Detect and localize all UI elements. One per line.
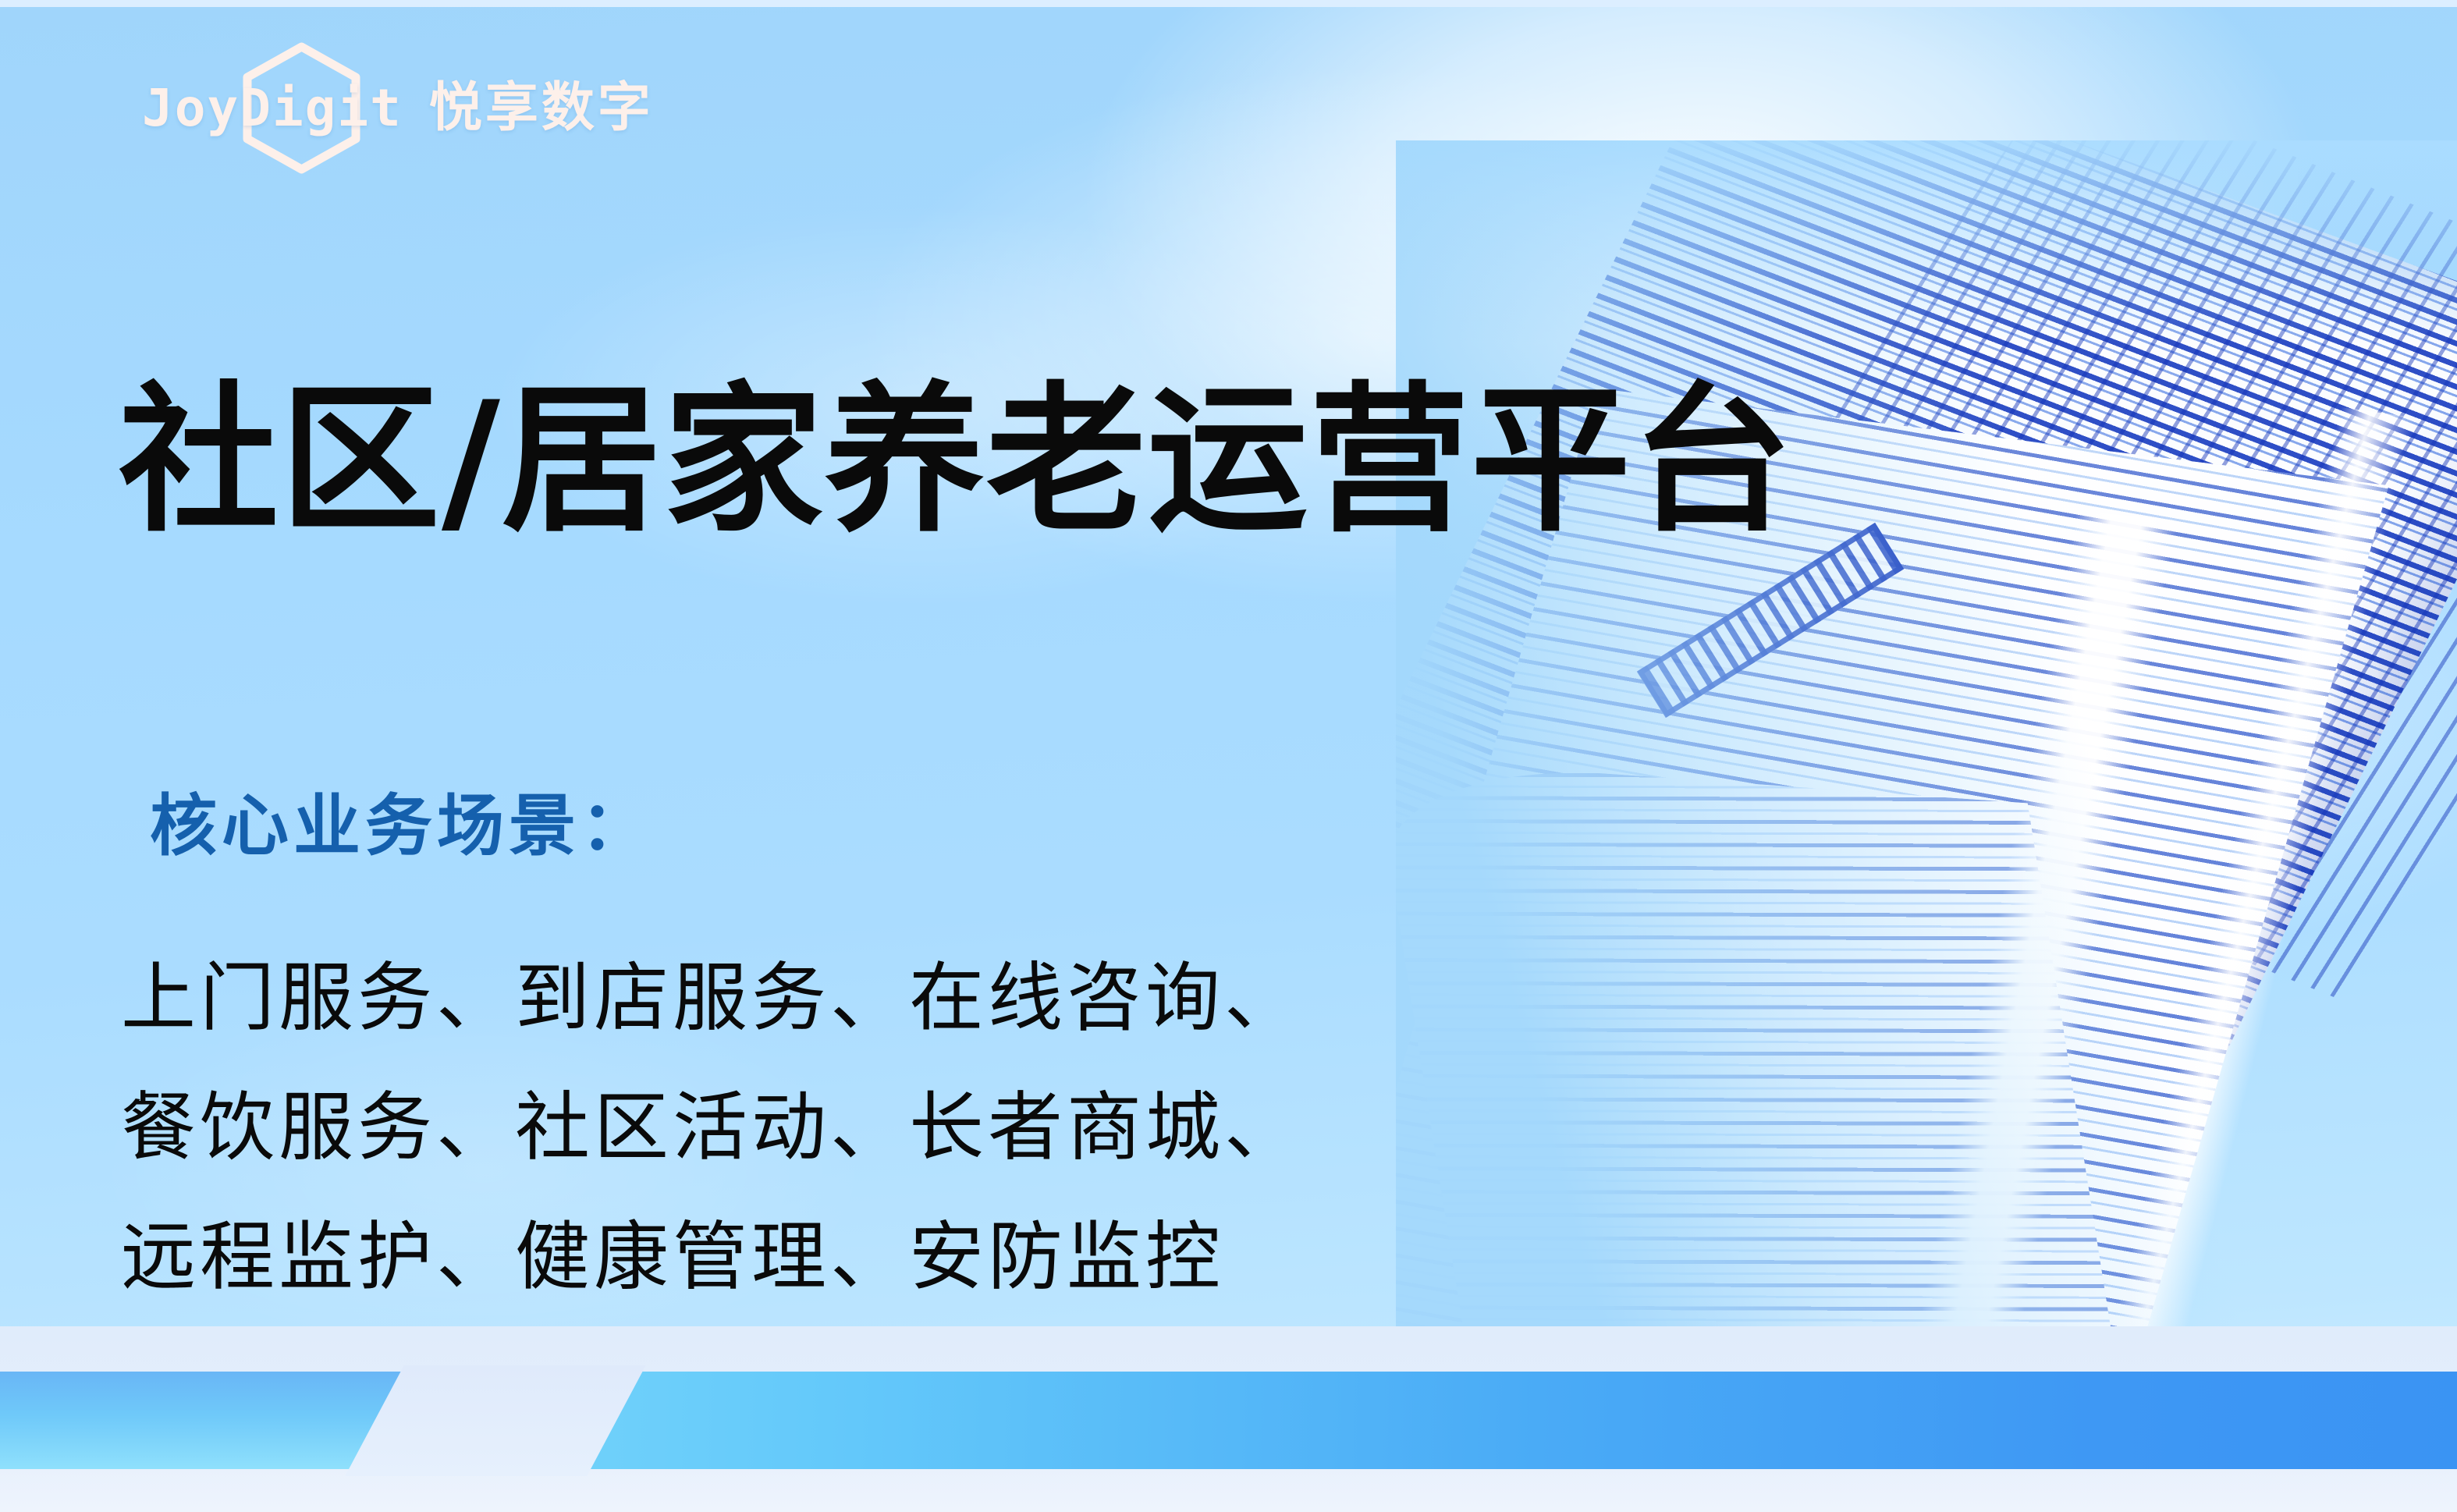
logo-chinese-text: 悦享数字 <box>429 82 654 135</box>
footer-decorative-bar <box>0 1326 2457 1512</box>
scenario-line: 远程监护、健康管理、安防监控 <box>121 1192 1303 1322</box>
page-title: 社区/居家养老运营平台 <box>119 372 1794 552</box>
scenario-line: 餐饮服务、社区活动、长者商城、 <box>121 1063 1303 1192</box>
section-heading: 核心业务场景： <box>150 771 652 868</box>
slide-root: JoyDigit 悦享数字 社区/居家养老运营平台 核心业务场景： 上门服务、到… <box>0 0 2457 1512</box>
scenario-list: 上门服务、到店服务、在线咨询、 餐饮服务、社区活动、长者商城、 远程监护、健康管… <box>121 933 1303 1322</box>
logo-latin-text: JoyDigit <box>142 83 403 134</box>
top-edge-strip <box>0 0 2457 7</box>
scenario-line: 上门服务、到店服务、在线咨询、 <box>121 933 1303 1063</box>
brand-logo: JoyDigit 悦享数字 <box>142 66 654 151</box>
